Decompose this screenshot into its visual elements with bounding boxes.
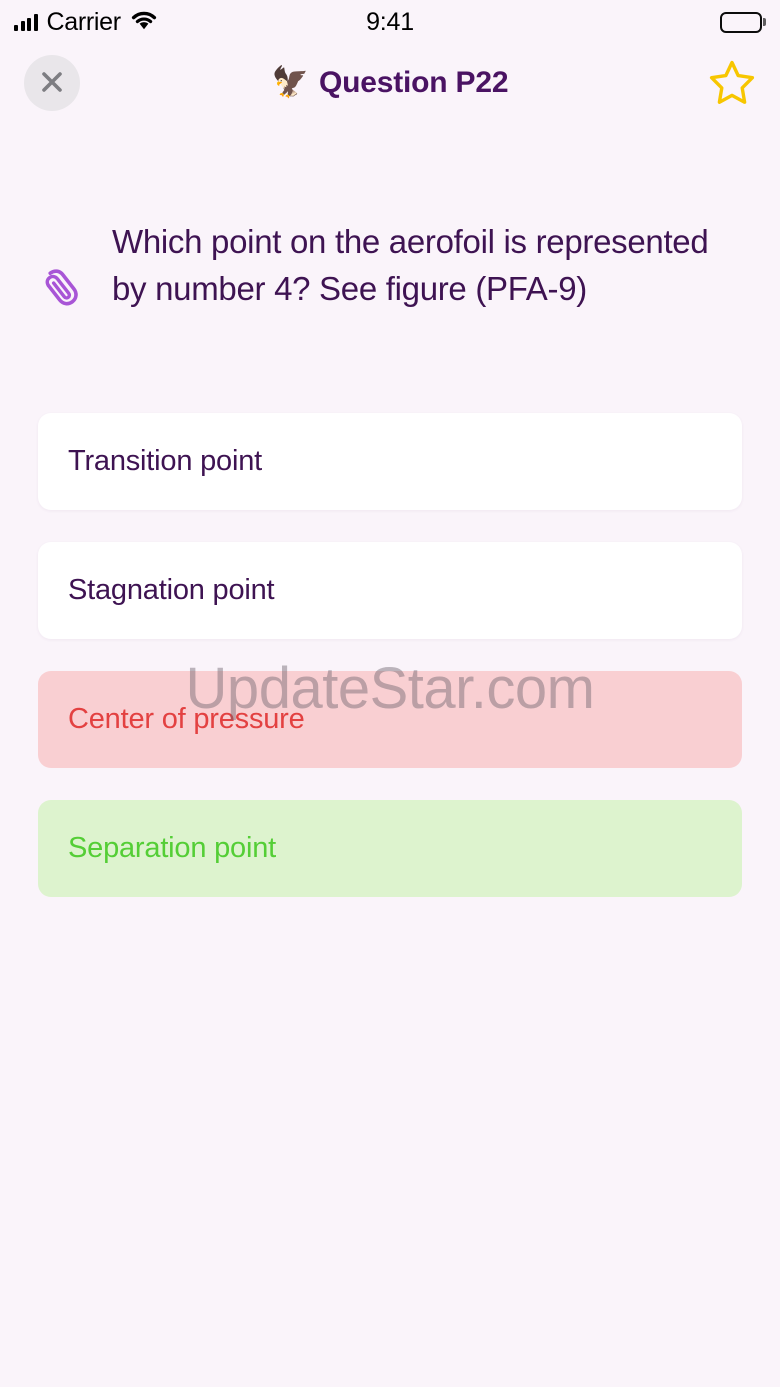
nav-header: 🦅 Question P22 (0, 44, 780, 122)
answer-option-correct[interactable]: Separation point (38, 800, 742, 897)
status-bar-left: Carrier (14, 10, 158, 35)
star-outline-icon (708, 59, 756, 108)
answer-option-label: Separation point (68, 832, 276, 865)
question-block: Which point on the aerofoil is represent… (0, 122, 780, 313)
close-button[interactable] (24, 55, 80, 111)
carrier-label: Carrier (47, 10, 121, 35)
attachment-button[interactable] (38, 218, 84, 313)
answer-option[interactable]: Transition point (38, 413, 742, 510)
nav-title-group: 🦅 Question P22 (0, 68, 780, 98)
answer-option-label: Stagnation point (68, 574, 274, 607)
wifi-icon (130, 10, 158, 35)
signal-bars-icon (14, 14, 38, 31)
question-text: Which point on the aerofoil is represent… (84, 218, 740, 312)
answer-option-incorrect[interactable]: Center of pressure (38, 671, 742, 768)
paperclip-icon (41, 266, 81, 313)
close-icon (39, 69, 65, 98)
page-title: Question P22 (319, 68, 508, 98)
battery-full-icon (720, 12, 762, 33)
eagle-icon: 🦅 (272, 68, 309, 98)
answer-option-label: Center of pressure (68, 703, 305, 736)
status-bar-right (720, 12, 762, 33)
answer-option[interactable]: Stagnation point (38, 542, 742, 639)
answer-option-label: Transition point (68, 445, 262, 478)
status-bar: Carrier 9:41 (0, 0, 780, 44)
favorite-button[interactable] (708, 59, 756, 108)
answer-options-list: Transition point Stagnation point Center… (0, 413, 780, 897)
